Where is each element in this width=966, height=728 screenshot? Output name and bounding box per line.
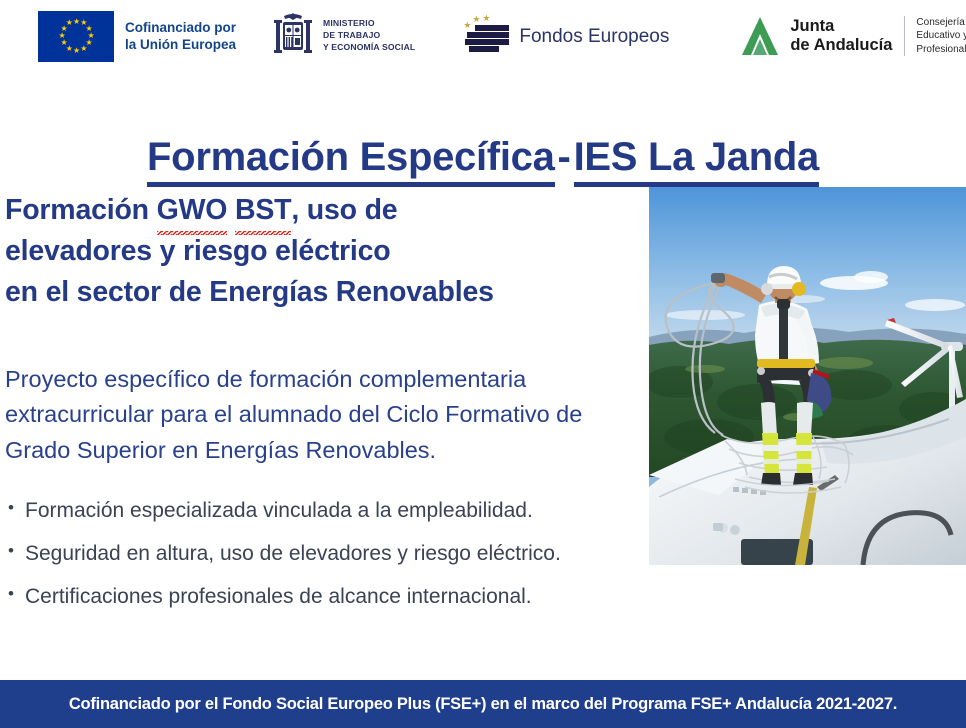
subheading-line1-pre: Formación [5, 194, 157, 226]
junta-name-line2: de Andalucía [790, 36, 892, 55]
subheading-line3: en el sector de Energías Renovables [5, 276, 494, 308]
ministry-line3: Y ECONOMÍA SOCIAL [323, 42, 415, 54]
european-union-flag-icon: ★★★★★★★★★★★★ [38, 11, 114, 62]
page-title-part2: IES La Janda [574, 135, 819, 187]
page-title-part1: Formación Específica [147, 135, 554, 187]
junta-de-andalucia-logo: Junta de Andalucía Consejería de Desarro… [739, 15, 966, 57]
eu-logo-text: Cofinanciado por la Unión Europea [125, 19, 236, 54]
fondos-europeos-logo: ★ ★ ★ Fondos Europeos [459, 13, 669, 59]
funding-footer-text: Cofinanciado por el Fondo Social Europeo… [69, 695, 897, 714]
project-description-paragraph: Proyecto específico de formación complem… [5, 362, 630, 469]
header-divider-3 [904, 16, 905, 56]
ministry-line1: MINISTERIO [323, 18, 415, 30]
list-item: Seguridad en altura, uso de elevadores y… [8, 543, 648, 564]
ministry-logo: MINISTERIO DE TRABAJO Y ECONOMÍA SOCIAL [272, 10, 415, 62]
ministry-line2: DE TRABAJO [323, 30, 415, 42]
eu-star-icon: ★ [73, 19, 79, 25]
eu-cofinancing-logo: ★★★★★★★★★★★★ Cofinanciado por la Unión E… [38, 11, 236, 62]
misspelled-word-bst: BST [235, 190, 291, 231]
eu-star-icon: ★ [66, 20, 72, 26]
funding-footer-banner: Cofinanciado por el Fondo Social Europeo… [0, 680, 966, 728]
consejeria-line1: Consejería de Desarrollo [916, 16, 966, 29]
key-points-list: Formación especializada vinculada a la e… [8, 500, 648, 629]
eu-star-icon: ★ [73, 48, 79, 54]
header-logo-strip: ★★★★★★★★★★★★ Cofinanciado por la Unión E… [0, 0, 966, 72]
subheading-line2: elevadores y riesgo eléctrico [5, 235, 391, 267]
spain-coat-of-arms-icon [272, 10, 314, 62]
junta-name-line1: Junta [790, 17, 892, 36]
list-item: Certificaciones profesionales de alcance… [8, 586, 648, 607]
junta-andalucia-name: Junta de Andalucía [790, 17, 892, 55]
page-title-separator: - [555, 135, 574, 179]
fondos-europeos-mark-icon: ★ ★ ★ [459, 13, 509, 59]
eu-logo-line1: Cofinanciado por [125, 19, 236, 36]
page-title: Formación Específica-IES La Janda [0, 135, 966, 180]
wind-turbine-technician-photo [649, 187, 966, 565]
consejeria-text: Consejería de Desarrollo Educativo y For… [916, 16, 966, 56]
subheading-line1-post: , uso de [291, 194, 397, 226]
subheading-line1-mid [227, 194, 235, 226]
misspelled-word-gwo: GWO [157, 190, 228, 231]
ministry-logo-text: MINISTERIO DE TRABAJO Y ECONOMÍA SOCIAL [323, 18, 415, 54]
eu-logo-line2: la Unión Europea [125, 36, 236, 53]
list-item: Formación especializada vinculada a la e… [8, 500, 648, 521]
eu-star-icon: ★ [60, 40, 66, 46]
consejeria-line3: Profesional [916, 43, 966, 56]
fondos-europeos-label: Fondos Europeos [519, 27, 669, 46]
eu-star-icon: ★ [80, 46, 86, 52]
consejeria-line2: Educativo y Formación [916, 29, 966, 42]
eu-star-icon: ★ [59, 33, 65, 39]
junta-andalucia-a-mark-icon [739, 15, 781, 57]
program-subheading: Formación GWO BST, uso de elevadores y r… [5, 190, 635, 313]
